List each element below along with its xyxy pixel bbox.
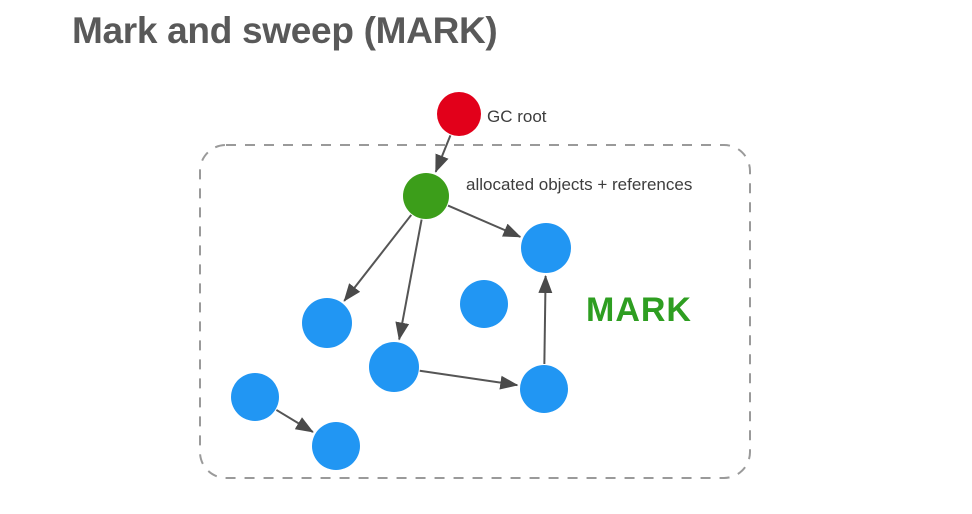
object-node-middle	[369, 342, 419, 392]
edge-root-to-left	[344, 215, 411, 301]
object-node-left	[302, 298, 352, 348]
root-object-node	[403, 173, 449, 219]
edge-bottom-right-to-top-right	[544, 276, 545, 364]
edge-root-to-top-right	[448, 206, 520, 237]
edge-unreachable-1-to-2	[276, 410, 313, 432]
slide-canvas: Mark and sweep (MARK) GC root allocated …	[0, 0, 972, 514]
object-node-unreachable-1	[231, 373, 279, 421]
object-node-unreachable-2	[312, 422, 360, 470]
edge-root-to-middle	[399, 220, 421, 340]
gc-root-node	[437, 92, 481, 136]
object-node-top-right	[521, 223, 571, 273]
edge-gcroot-to-root-object	[436, 135, 451, 172]
object-node-center	[460, 280, 508, 328]
allocated-objects-label: allocated objects + references	[466, 175, 692, 195]
edge-middle-to-bottom-right	[420, 371, 518, 385]
gc-root-label: GC root	[487, 107, 547, 127]
object-node-bottom-right	[520, 365, 568, 413]
mark-and-sweep-diagram	[0, 0, 972, 514]
mark-phase-label: MARK	[586, 291, 692, 330]
